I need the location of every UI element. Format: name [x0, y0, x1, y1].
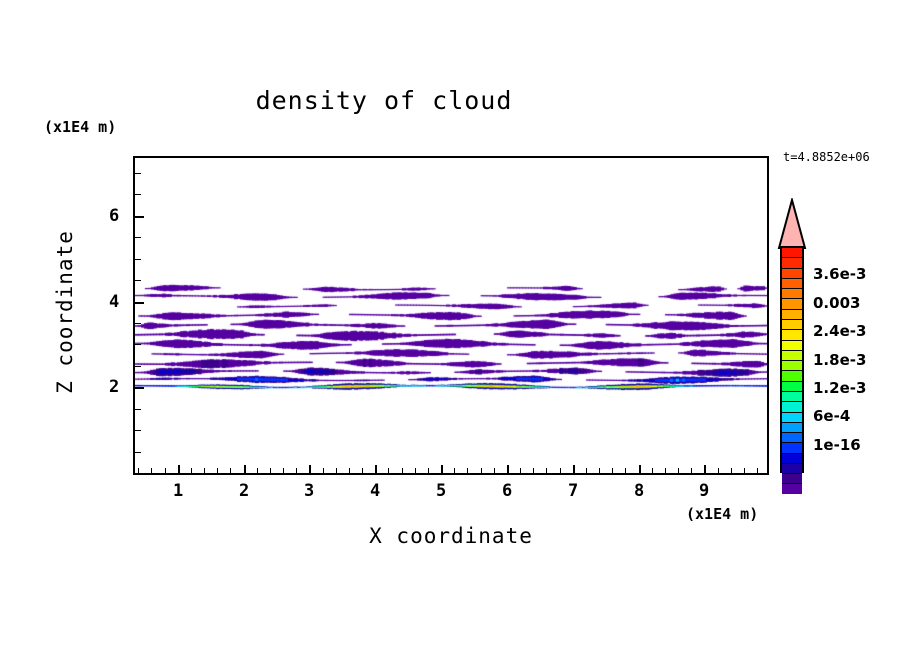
colorbar-label: 1.2e-3 [813, 379, 866, 397]
x-tick-label: 6 [502, 481, 512, 501]
x-tick-minor [217, 468, 218, 473]
y-tick-minor [135, 366, 141, 367]
colorbar-band [782, 412, 802, 422]
x-tick-minor [388, 468, 389, 473]
x-tick-minor [691, 468, 692, 473]
x-tick-minor [625, 468, 626, 473]
y-tick-minor [135, 259, 141, 260]
colorbar-band [782, 401, 802, 411]
y-tick-minor [135, 323, 141, 324]
y-tick-minor [135, 409, 141, 410]
colorbar-band [782, 381, 802, 391]
y-axis-units-label: (x1E4 m) [44, 118, 116, 136]
colorbar-label: 3.6e-3 [813, 265, 866, 283]
x-tick-minor [151, 468, 152, 473]
colorbar-label: 1e-16 [813, 436, 861, 454]
x-tick-minor [138, 468, 139, 473]
x-tick-minor [665, 468, 666, 473]
y-tick-label: 4 [109, 292, 119, 312]
y-tick-minor [135, 452, 141, 453]
y-axis-title: Z coordinate [53, 192, 77, 432]
colorbar-band [782, 319, 802, 329]
x-tick-minor [744, 468, 745, 473]
x-tick-minor [323, 468, 324, 473]
x-tick-minor [349, 468, 350, 473]
x-tick-minor [362, 468, 363, 473]
x-tick-major [507, 465, 509, 473]
colorbar-band [782, 370, 802, 380]
x-tick-major [309, 465, 311, 473]
colorbar-label: 6e-4 [813, 407, 850, 425]
colorbar-band [782, 350, 802, 360]
y-tick-label: 2 [109, 377, 119, 397]
colorbar-band [782, 268, 802, 278]
x-tick-minor [191, 468, 192, 473]
colorbar-band [782, 483, 802, 493]
x-tick-label: 5 [436, 481, 446, 501]
x-tick-minor [652, 468, 653, 473]
colorbar-label: 1.8e-3 [813, 351, 866, 369]
x-tick-major [375, 465, 377, 473]
colorbar-band [782, 391, 802, 401]
colorbar-band [782, 288, 802, 298]
x-tick-major [639, 465, 641, 473]
x-tick-minor [731, 468, 732, 473]
x-tick-label: 7 [568, 481, 578, 501]
x-axis-units-label: (x1E4 m) [686, 505, 758, 523]
colorbar-band [782, 442, 802, 452]
x-tick-major [178, 465, 180, 473]
x-tick-minor [296, 468, 297, 473]
x-tick-minor [718, 468, 719, 473]
x-tick-minor [257, 468, 258, 473]
y-tick-minor [135, 173, 141, 174]
y-tick-label: 6 [109, 206, 119, 226]
x-tick-minor [467, 468, 468, 473]
colorbar-band [782, 473, 802, 483]
y-tick-minor [135, 430, 141, 431]
x-tick-minor [520, 468, 521, 473]
colorbar-band [782, 360, 802, 370]
x-tick-minor [533, 468, 534, 473]
contour-plot-figure: density of cloud (x1E4 m) t=4.8852e+06 1… [0, 0, 904, 654]
y-tick-minor [135, 237, 141, 238]
x-tick-minor [402, 468, 403, 473]
colorbar-label: 0.003 [813, 294, 860, 312]
colorbar-band [782, 248, 802, 257]
x-tick-label: 1 [173, 481, 183, 501]
page-title: density of cloud [0, 86, 768, 115]
x-tick-label: 3 [304, 481, 314, 501]
x-tick-major [704, 465, 706, 473]
x-axis-title: X coordinate [133, 524, 769, 548]
colorbar-band [782, 432, 802, 442]
y-tick-major [135, 302, 144, 304]
colorbar-band [782, 340, 802, 350]
x-tick-minor [546, 468, 547, 473]
x-tick-minor [428, 468, 429, 473]
colorbar-band [782, 257, 802, 267]
x-tick-minor [678, 468, 679, 473]
contour-field [135, 158, 767, 473]
x-tick-minor [757, 468, 758, 473]
x-tick-minor [204, 468, 205, 473]
colorbar-band [782, 463, 802, 473]
x-tick-minor [599, 468, 600, 473]
x-tick-minor [230, 468, 231, 473]
y-tick-minor [135, 280, 141, 281]
x-tick-label: 4 [370, 481, 380, 501]
colorbar-band [782, 453, 802, 463]
colorbar-band [782, 329, 802, 339]
plot-area [133, 156, 769, 475]
x-tick-minor [494, 468, 495, 473]
colorbar-band [782, 278, 802, 288]
y-tick-major [135, 387, 144, 389]
y-tick-major [135, 216, 144, 218]
x-tick-minor [454, 468, 455, 473]
x-tick-major [441, 465, 443, 473]
x-tick-minor [560, 468, 561, 473]
y-tick-minor [135, 344, 141, 345]
x-tick-minor [283, 468, 284, 473]
colorbar-band [782, 298, 802, 308]
y-tick-minor [135, 194, 141, 195]
x-tick-minor [165, 468, 166, 473]
x-tick-minor [270, 468, 271, 473]
x-tick-minor [612, 468, 613, 473]
x-tick-label: 9 [699, 481, 709, 501]
x-tick-minor [481, 468, 482, 473]
colorbar-label: 2.4e-3 [813, 322, 866, 340]
x-tick-minor [415, 468, 416, 473]
x-tick-label: 2 [239, 481, 249, 501]
x-tick-minor [336, 468, 337, 473]
colorbar-band [782, 422, 802, 432]
colorbar-gradient [780, 246, 804, 473]
colorbar-band [782, 309, 802, 319]
x-tick-major [244, 465, 246, 473]
timestamp-annotation: t=4.8852e+06 [783, 150, 870, 164]
colorbar-arrow-icon [777, 198, 807, 250]
x-tick-minor [586, 468, 587, 473]
x-tick-label: 8 [634, 481, 644, 501]
x-tick-major [573, 465, 575, 473]
